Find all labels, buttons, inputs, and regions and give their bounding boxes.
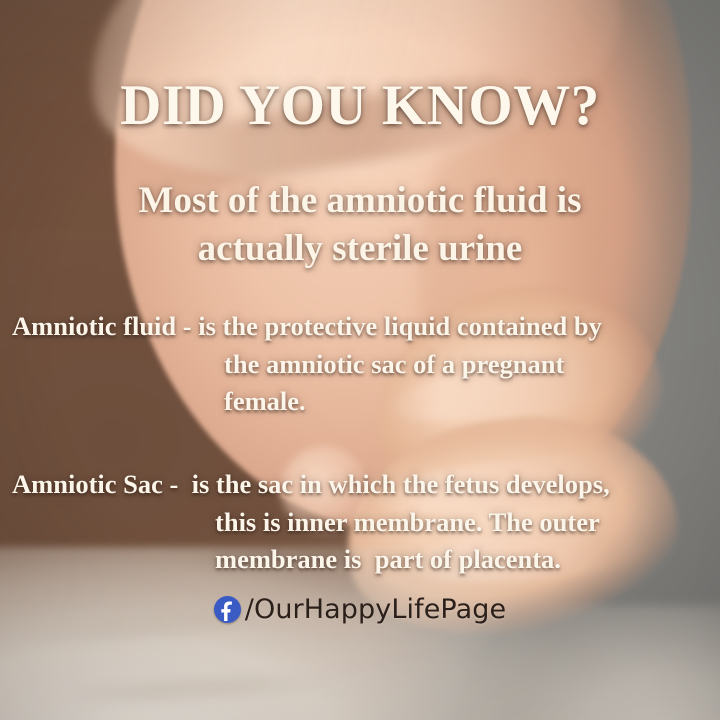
- text-overlay: DID YOU KNOW? Most of the amniotic fluid…: [0, 0, 720, 720]
- headline: DID YOU KNOW?: [0, 77, 720, 134]
- definition-amniotic-fluid-line-3: female.: [12, 383, 706, 421]
- facebook-icon[interactable]: [214, 596, 241, 623]
- definition-amniotic-sac: Amniotic Sac - is the sac in which the f…: [12, 466, 706, 579]
- definition-amniotic-sac-line-3: membrane is part of placenta.: [12, 541, 706, 579]
- facebook-page-handle[interactable]: /OurHappyLifePage: [245, 596, 506, 623]
- infographic-canvas: DID YOU KNOW? Most of the amniotic fluid…: [0, 0, 720, 720]
- subheadline: Most of the amniotic fluid is actually s…: [50, 177, 670, 273]
- definition-amniotic-fluid: Amniotic fluid - is the protective liqui…: [12, 308, 706, 421]
- definition-amniotic-fluid-line-1: Amniotic fluid - is the protective liqui…: [12, 308, 706, 346]
- subheadline-line-2: actually sterile urine: [50, 225, 670, 273]
- subheadline-line-1: Most of the amniotic fluid is: [50, 177, 670, 225]
- definition-amniotic-fluid-line-2: the amniotic sac of a pregnant: [12, 346, 706, 384]
- definition-amniotic-sac-line-2: this is inner membrane. The outer: [12, 504, 706, 542]
- footer-attribution: /OurHappyLifePage: [0, 596, 720, 623]
- definition-amniotic-sac-line-1: Amniotic Sac - is the sac in which the f…: [12, 466, 706, 504]
